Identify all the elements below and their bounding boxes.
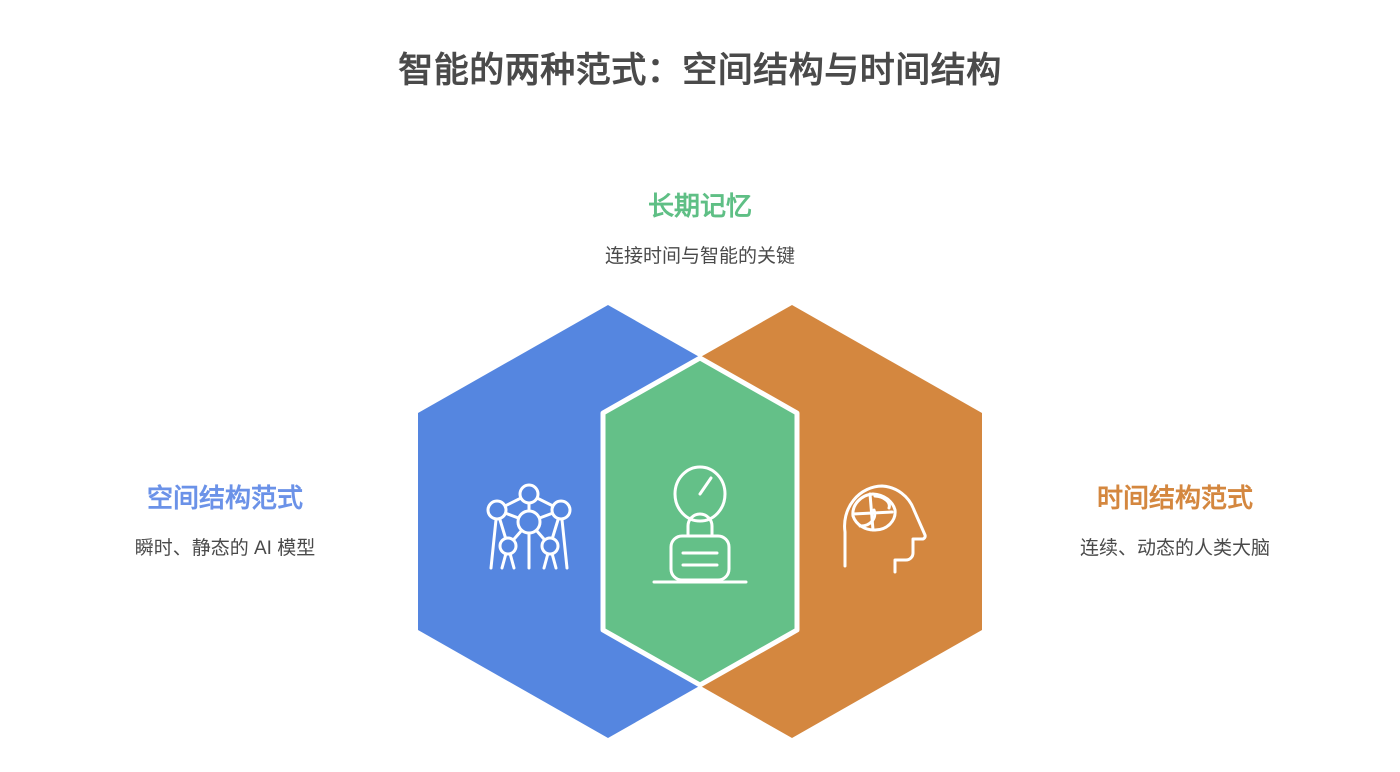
center-subtitle: 连接时间与智能的关键 (0, 245, 1400, 270)
hexagon-venn-svg (0, 0, 1400, 772)
right-subtitle: 连续、动态的人类大脑 (1010, 537, 1340, 562)
hexagon-venn-diagram: 长期记忆 连接时间与智能的关键 空间结构范式 瞬时、静态的 AI 模型 时间结构… (0, 0, 1400, 772)
label-group-right: 时间结构范式 连续、动态的人类大脑 (1010, 482, 1340, 561)
slide-canvas: 智能的两种范式：空间结构与时间结构 (0, 0, 1400, 772)
left-subtitle: 瞬时、静态的 AI 模型 (60, 537, 390, 562)
left-heading: 空间结构范式 (60, 482, 390, 515)
right-heading: 时间结构范式 (1010, 482, 1340, 515)
label-group-center: 长期记忆 连接时间与智能的关键 (0, 190, 1400, 269)
center-heading: 长期记忆 (0, 190, 1400, 223)
label-group-left: 空间结构范式 瞬时、静态的 AI 模型 (60, 482, 390, 561)
